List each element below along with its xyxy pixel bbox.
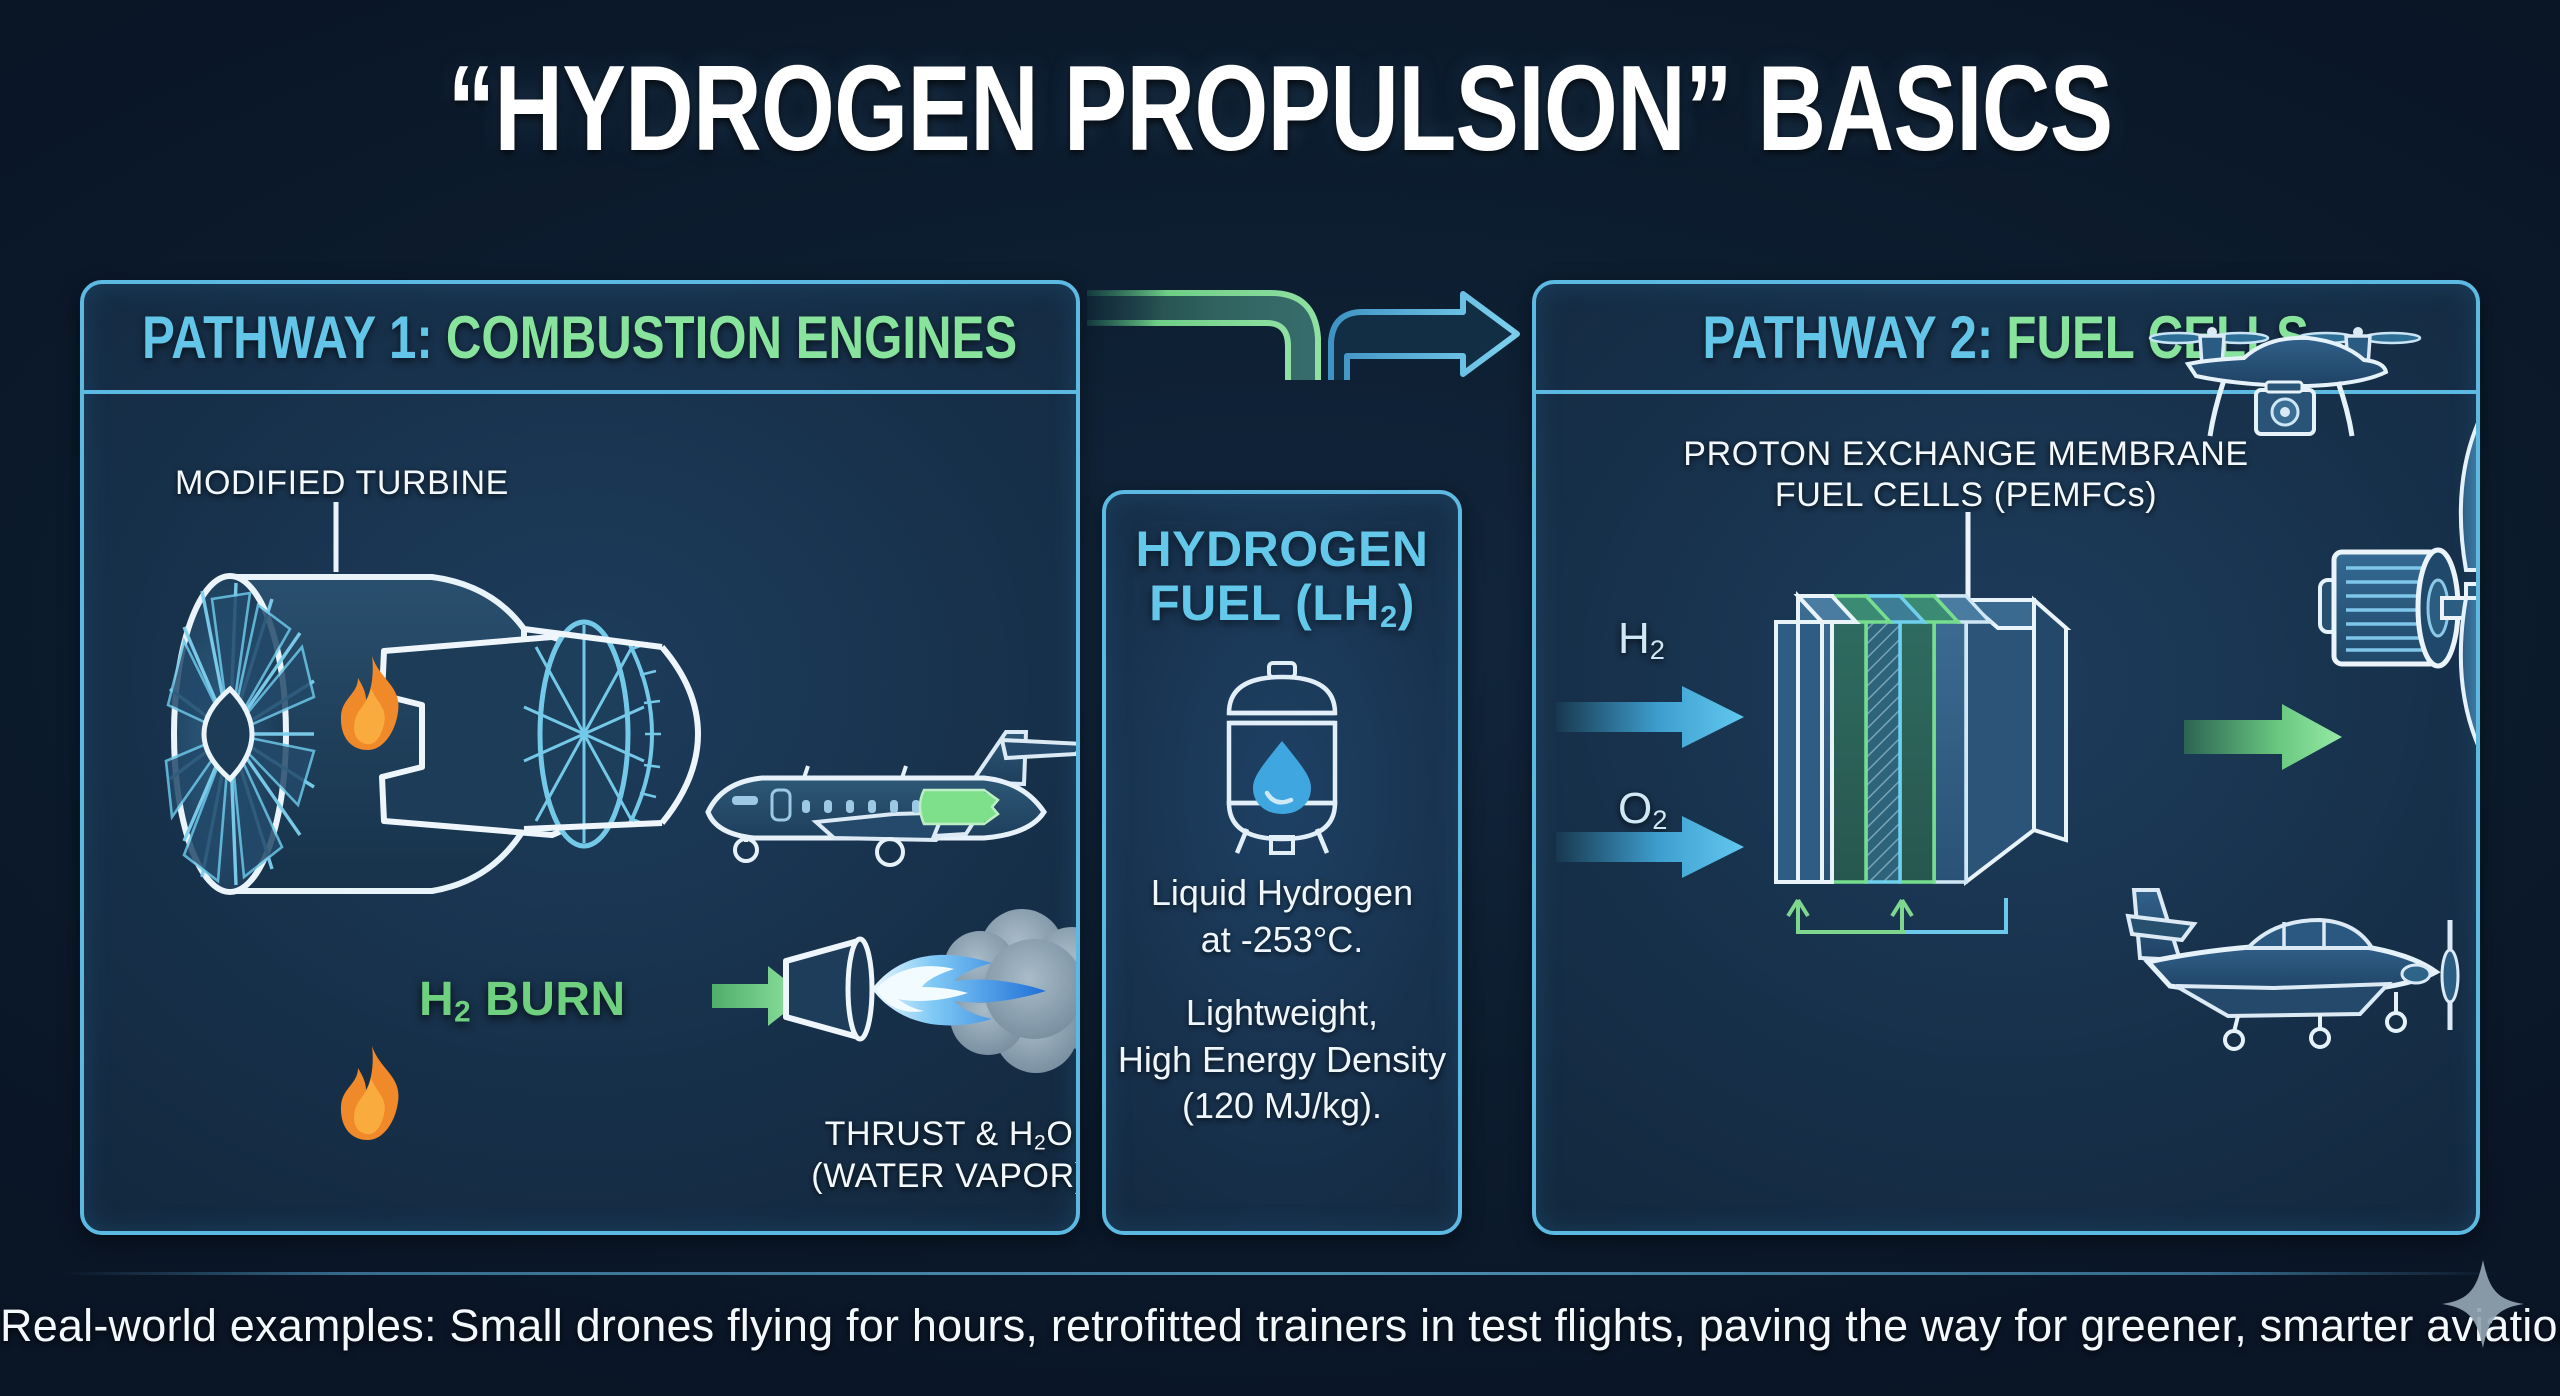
- hydrogen-fuel-body: Liquid Hydrogen at -253°C. Lightweight, …: [1106, 870, 1458, 1130]
- splitting-flow-arrow: [1085, 290, 1605, 520]
- h2-inlet-label: H2: [1618, 614, 1665, 666]
- exhaust-nozzle-icon: [784, 889, 1080, 1099]
- infographic-canvas: “HYDROGEN PROPULSION” BASICS: [0, 0, 2560, 1396]
- o2-inlet-arrow-icon: [1556, 814, 1746, 880]
- pathway-1-panel: PATHWAY 1:COMBUSTION ENGINES MODIFIED TU…: [80, 280, 1080, 1235]
- hydrogen-fuel-body-line: at -253°C.: [1106, 917, 1458, 964]
- pathway-2-panel: PATHWAY 2:FUEL CELLS PROTON EXCHANGE MEM…: [1532, 280, 2480, 1235]
- hydrogen-fuel-body-line: Liquid Hydrogen: [1106, 870, 1458, 917]
- business-jet-icon: [684, 704, 1080, 894]
- hydrogen-fuel-title-line2: FUEL (LH2): [1106, 576, 1458, 633]
- h2-burn-label: H2 BURN: [419, 972, 626, 1030]
- sparkle-star-icon: [2440, 1258, 2526, 1350]
- hydrogen-fuel-body-line: Lightweight,: [1106, 990, 1458, 1037]
- hydrogen-fuel-body-line: (120 MJ/kg).: [1106, 1083, 1458, 1130]
- flame-icon: [332, 654, 410, 754]
- quadcopter-drone-icon: [2148, 314, 2438, 464]
- hydrogen-fuel-body-line: High Energy Density: [1106, 1037, 1458, 1084]
- pathway-2-header-prefix: PATHWAY 2:: [1703, 304, 1994, 371]
- hydrogen-fuel-title-line1: HYDROGEN: [1106, 522, 1458, 576]
- light-aircraft-icon: [2124, 864, 2480, 1054]
- flame-icon: [332, 1044, 410, 1144]
- h2-inlet-arrow-icon: [1556, 684, 1746, 750]
- pathway-1-header-suffix: COMBUSTION ENGINES: [446, 304, 1017, 371]
- thrust-water-vapor-label: THRUST & H2O (WATER VAPOR): [784, 1114, 1080, 1198]
- storage-tank-icon: [1207, 661, 1357, 856]
- propeller-icon: [2436, 424, 2480, 744]
- turbine-fan-icon: [132, 529, 772, 949]
- fuel-cell-stack-icon: [1758, 582, 2188, 912]
- footer-text: Real-world examples: Small drones flying…: [0, 1300, 2560, 1352]
- modified-turbine-label: MODIFIED TURBINE: [162, 464, 522, 503]
- pathway-1-header-prefix: PATHWAY 1:: [142, 304, 433, 371]
- pathway-1-header: PATHWAY 1:COMBUSTION ENGINES: [84, 284, 1076, 394]
- hydrogen-fuel-panel: HYDROGEN FUEL (LH2) Liquid Hydrogen at -…: [1102, 490, 1462, 1235]
- hydrogen-fuel-title: HYDROGEN FUEL (LH2): [1106, 522, 1458, 633]
- footer-divider: [58, 1272, 2502, 1275]
- page-title: “HYDROGEN PROPULSION” BASICS: [282, 38, 2279, 178]
